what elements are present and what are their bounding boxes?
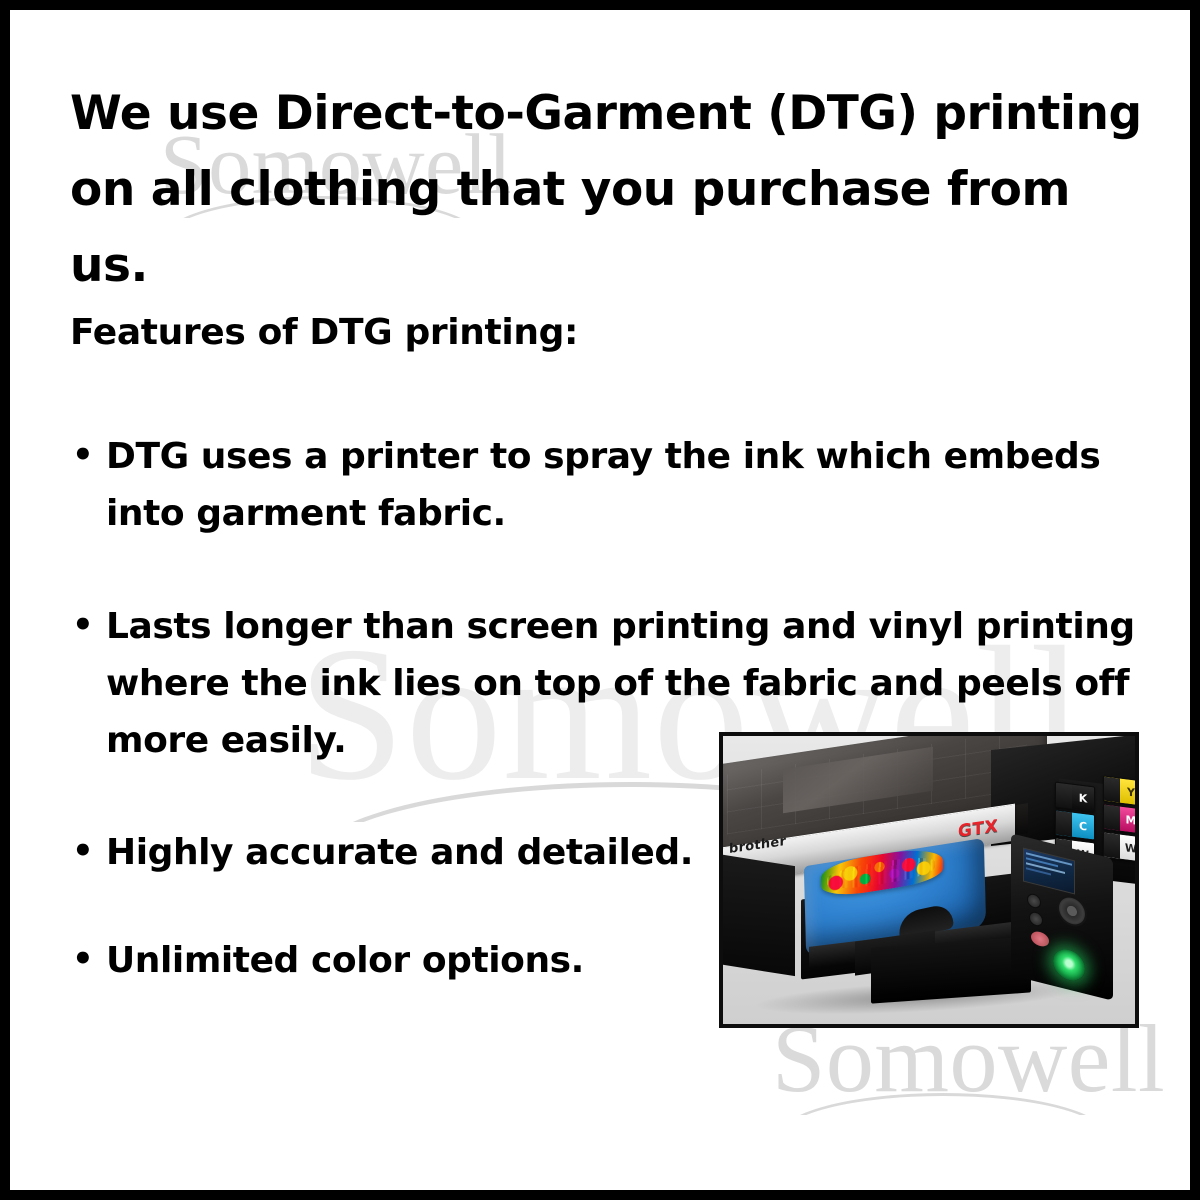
cartridge-letter: K	[1079, 792, 1088, 804]
list-item-text: Unlimited color options.	[106, 933, 712, 990]
bullet-icon: •	[72, 825, 106, 879]
printer-left-pillar	[719, 854, 795, 976]
list-item-text: DTG uses a printer to spray the ink whic…	[106, 429, 1147, 543]
cartridge-letter: W	[1125, 842, 1137, 854]
bullet-icon: •	[72, 429, 106, 483]
list-item: • DTG uses a printer to spray the ink wh…	[72, 429, 1147, 543]
ink-cartridge-black: K	[1055, 782, 1095, 813]
bullet-icon: •	[72, 933, 106, 987]
info-card: Somowell Somowell Somowell We use Direct…	[0, 0, 1200, 1200]
printer-photo-canvas: brother GTX K Y	[723, 736, 1135, 1024]
cartridge-chip	[1104, 833, 1120, 859]
printer-photo: brother GTX K Y	[719, 732, 1139, 1028]
cartridge-chip	[1056, 783, 1072, 809]
cartridge-letter: Y	[1127, 786, 1135, 798]
cartridge-letter: C	[1079, 820, 1087, 832]
ink-cartridge-yellow: Y	[1103, 776, 1139, 807]
cartridge-chip	[1104, 805, 1120, 831]
cartridge-chip	[1056, 811, 1072, 837]
list-item: • Highly accurate and detailed.	[72, 825, 712, 882]
watermark-swoosh-bottom	[778, 1093, 1108, 1115]
page-title: We use Direct-to-Garment (DTG) printing …	[70, 76, 1145, 304]
features-heading: Features of DTG printing:	[70, 310, 578, 357]
cartridge-letter: M	[1126, 814, 1137, 826]
cartridge-chip	[1104, 777, 1120, 803]
bullet-icon: •	[72, 599, 106, 653]
list-item-text: Highly accurate and detailed.	[106, 825, 712, 882]
ink-cartridge-cyan: C	[1055, 810, 1095, 841]
ink-cartridge-magenta: M	[1103, 804, 1139, 835]
list-item: • Unlimited color options.	[72, 933, 712, 990]
